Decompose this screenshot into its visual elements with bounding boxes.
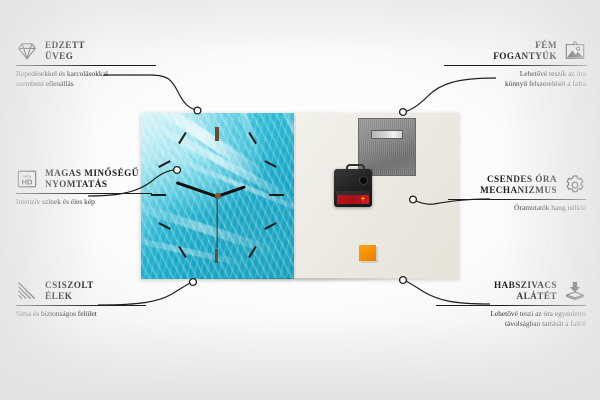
callout-header: CSENDES ÓRA MECHANIZMUS	[448, 174, 586, 196]
battery-plus-mark: +	[361, 196, 365, 204]
product-image: +	[141, 113, 459, 279]
metal-hanger	[358, 118, 416, 176]
clock-face	[141, 113, 294, 279]
callout-title: HABSZIVACS ALÁTÉT	[494, 280, 557, 302]
clock-center-cap	[215, 193, 221, 199]
glass-clock-front	[141, 113, 294, 279]
callout-divider	[448, 199, 586, 200]
callout-fem-fogantyuk[interactable]: FÉM FOGANTYÚK Lehetővé teszik az óra kön…	[444, 40, 586, 88]
svg-text:HD: HD	[21, 178, 33, 187]
callout-description: Sima és biztonságos felület	[16, 309, 146, 318]
callout-title: CSENDES ÓRA MECHANIZMUS	[480, 174, 557, 196]
hour-tick	[264, 222, 277, 230]
hour-tick	[269, 194, 284, 197]
callout-csendes-ora-mechanizmus[interactable]: CSENDES ÓRA MECHANIZMUS Óramutatók hang …	[448, 174, 586, 213]
callout-description: Lehetővé teszik az óra könnyű felszerelé…	[444, 69, 586, 88]
callout-title: EDZETT ÜVEG	[45, 40, 85, 62]
hour-tick	[215, 127, 218, 141]
quartz-mechanism: +	[334, 169, 372, 207]
callout-description: Repedésekkel és karcolásokkal szembeni e…	[16, 69, 156, 88]
callout-description: Intenzív színek és éles kép	[16, 197, 152, 206]
callout-description: Óramutatók hang nélkül	[448, 203, 586, 212]
callout-divider	[16, 305, 146, 306]
callout-magas-minosegu-nyomtatas[interactable]: ultra HD MAGAS MINŐSÉGŰ NYOMTATÁS Intenz…	[16, 168, 152, 207]
mechanism-label: +	[337, 195, 369, 204]
product-shadow	[141, 278, 461, 286]
foam-pad-icon	[564, 280, 586, 302]
foam-pad	[359, 245, 376, 261]
callout-edzett-uveg[interactable]: EDZETT ÜVEG Repedésekkel és karcolásokka…	[16, 40, 156, 88]
hour-tick	[264, 160, 277, 168]
clock-second-hand	[216, 196, 217, 248]
hour-tick	[178, 132, 187, 144]
bevelled-edge-icon	[16, 280, 38, 302]
callout-habszivacs-alatet[interactable]: HABSZIVACS ALÁTÉT Lehetővé teszi az óra …	[436, 280, 586, 328]
clock-back-panel: +	[296, 113, 459, 279]
clock-hour-hand	[216, 185, 245, 198]
hour-tick	[248, 246, 257, 258]
diamond-icon	[16, 40, 38, 62]
callout-divider	[436, 305, 586, 306]
hour-tick	[151, 194, 166, 197]
callout-title: CSISZOLT ÉLEK	[45, 280, 94, 302]
hour-tick	[158, 160, 171, 168]
callout-divider	[444, 65, 586, 66]
hour-tick	[158, 222, 171, 230]
callout-header: CSISZOLT ÉLEK	[16, 280, 146, 302]
gear-icon	[564, 174, 586, 196]
callout-csiszolt-elek[interactable]: CSISZOLT ÉLEK Sima és biztonságos felüle…	[16, 280, 146, 319]
ultra-hd-icon: ultra HD	[16, 168, 38, 190]
callout-header: EDZETT ÜVEG	[16, 40, 156, 62]
callout-description: Lehetővé teszi az óra egyenletes távolsá…	[436, 309, 586, 328]
callout-header: FÉM FOGANTYÚK	[444, 40, 586, 62]
callout-divider	[16, 65, 156, 66]
picture-hanger-icon	[564, 40, 586, 62]
callout-header: HABSZIVACS ALÁTÉT	[436, 280, 586, 302]
mechanism-dial	[359, 176, 368, 185]
hour-tick	[248, 132, 257, 144]
callout-header: ultra HD MAGAS MINŐSÉGŰ NYOMTATÁS	[16, 168, 152, 190]
clock-minute-hand	[176, 181, 218, 198]
hanger-slot	[371, 130, 403, 139]
callout-title: MAGAS MINŐSÉGŰ NYOMTATÁS	[45, 168, 139, 190]
infographic-canvas: +	[0, 0, 600, 400]
hour-tick	[215, 249, 218, 263]
callout-divider	[16, 193, 152, 194]
mechanism-loop	[346, 164, 365, 174]
callout-title: FÉM FOGANTYÚK	[493, 40, 557, 62]
hour-tick	[178, 246, 187, 258]
